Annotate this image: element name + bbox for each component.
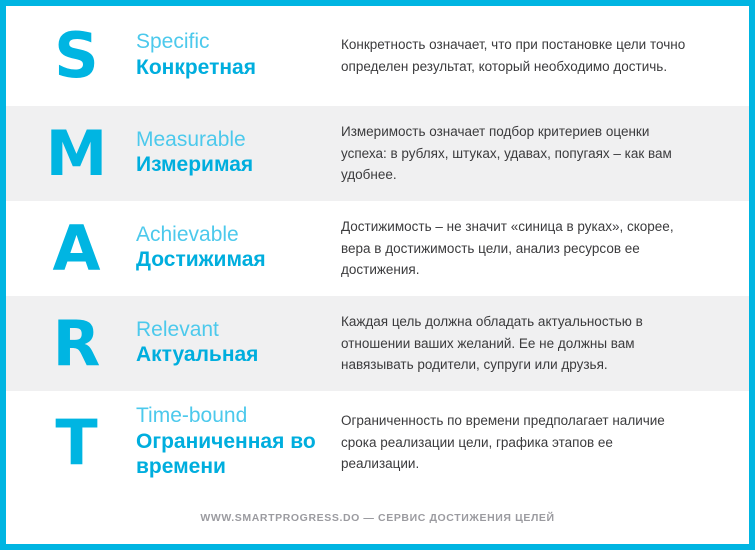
title-ru-m: Измеримая [136,153,331,178]
smart-goals-infographic: S Specific Конкретная Конкретность означ… [0,0,755,550]
footer-bar: WWW.SMARTPROGRESS.DO — СЕРВИС ДОСТИЖЕНИЯ… [6,492,749,544]
smart-rows-container: S Specific Конкретная Конкретность означ… [6,6,749,544]
description-text-s: Конкретность означает, что при постановк… [341,34,686,78]
title-ru-s: Конкретная [136,56,331,81]
smart-letter-s: S [54,25,98,87]
description-text-a: Достижимость – не значит «синица в руках… [341,216,686,282]
letter-cell-t: T [6,412,136,474]
title-cell-r: Relevant Актуальная [136,319,341,368]
title-en-a: Achievable [136,224,331,247]
description-cell-s: Конкретность означает, что при постановк… [341,34,749,78]
description-cell-a: Достижимость – не значит «синица в руках… [341,216,749,282]
title-en-s: Specific [136,31,331,54]
smart-row-a: A Achievable Достижимая Достижимость – н… [6,201,749,296]
description-text-r: Каждая цель должна обладать актуальность… [341,311,686,377]
title-en-m: Measurable [136,129,331,152]
letter-cell-m: M [6,123,136,185]
title-cell-t: Time-bound Ограниченная во времени [136,405,341,479]
description-cell-r: Каждая цель должна обладать актуальность… [341,311,749,377]
title-en-t: Time-bound [136,405,331,428]
title-ru-a: Достижимая [136,248,331,273]
smart-row-r: R Relevant Актуальная Каждая цель должна… [6,296,749,391]
smart-letter-t: T [55,412,96,474]
title-ru-r: Актуальная [136,343,331,368]
description-cell-m: Измеримость означает подбор критериев оц… [341,121,749,187]
smart-row-t: T Time-bound Ограниченная во времени Огр… [6,391,749,494]
letter-cell-r: R [6,313,136,375]
smart-letter-a: A [53,218,100,280]
title-ru-t: Ограниченная во времени [136,430,331,480]
description-text-t: Ограниченность по времени предполагает н… [341,410,686,476]
smart-row-s: S Specific Конкретная Конкретность означ… [6,6,749,106]
footer-website-label: WWW.SMARTPROGRESS.DO — СЕРВИС ДОСТИЖЕНИЯ… [200,512,554,524]
title-cell-s: Specific Конкретная [136,31,341,80]
title-cell-m: Measurable Измеримая [136,129,341,178]
letter-cell-s: S [6,25,136,87]
title-en-r: Relevant [136,319,331,342]
description-text-m: Измеримость означает подбор критериев оц… [341,121,686,187]
title-cell-a: Achievable Достижимая [136,224,341,273]
smart-letter-r: R [53,313,100,375]
smart-letter-m: M [46,123,107,185]
smart-row-m: M Measurable Измеримая Измеримость означ… [6,106,749,201]
description-cell-t: Ограниченность по времени предполагает н… [341,410,749,476]
letter-cell-a: A [6,218,136,280]
